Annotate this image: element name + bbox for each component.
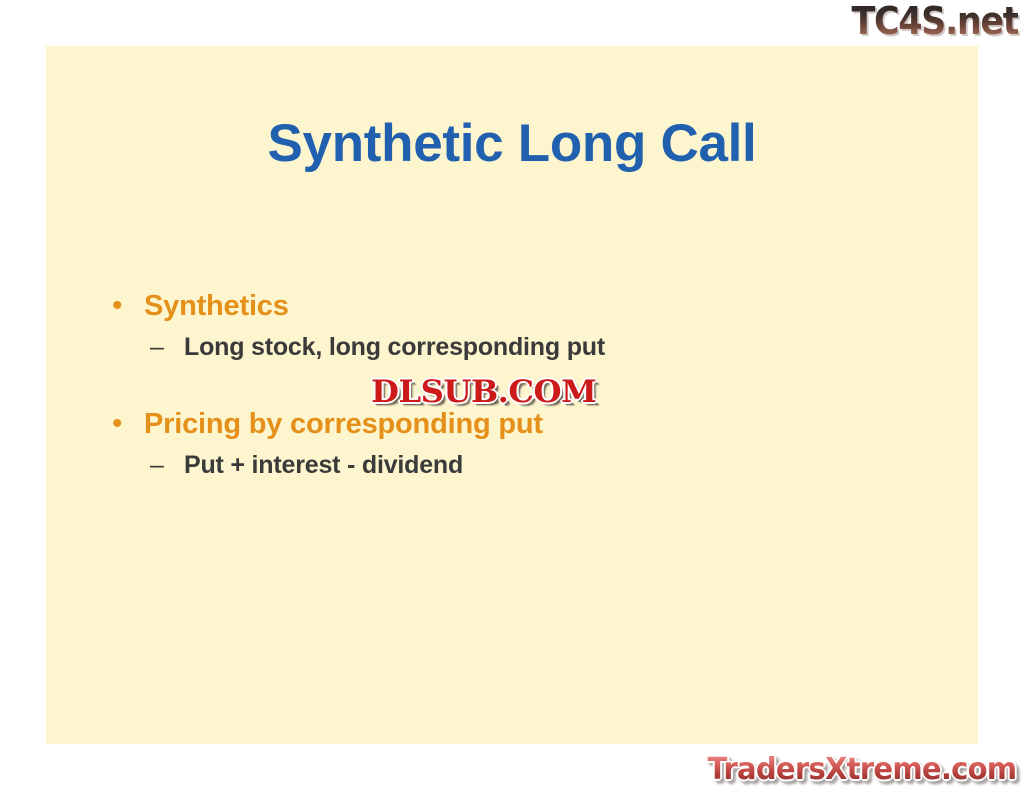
bullet-group: • Pricing by corresponding put – Put + i…: [106, 406, 966, 482]
bullet-label: Synthetics: [144, 288, 289, 324]
bullet-label: Pricing by corresponding put: [144, 406, 543, 442]
sub-bullet-label: Put + interest - dividend: [184, 450, 463, 481]
sub-bullet-label: Long stock, long corresponding put: [184, 332, 605, 363]
tradersxtreme-watermark: TradersXtreme.com: [707, 755, 1016, 785]
bullet-item-level2: – Put + interest - dividend: [106, 450, 966, 481]
bullet-group: • Synthetics – Long stock, long correspo…: [106, 288, 966, 364]
bullet-item-level1: • Synthetics: [106, 288, 966, 324]
slide-title: Synthetic Long Call: [46, 116, 978, 172]
bullet-dot-icon: •: [106, 291, 144, 321]
bullet-dash-icon: –: [106, 335, 184, 360]
bullet-dash-icon: –: [106, 453, 184, 478]
bullet-item-level2: – Long stock, long corresponding put: [106, 332, 966, 363]
dlsub-watermark: DLSUB.COM: [371, 377, 596, 408]
bullet-dot-icon: •: [106, 409, 144, 439]
tc4s-logo: TC4S.net: [851, 2, 1018, 40]
bullet-item-level1: • Pricing by corresponding put: [106, 406, 966, 442]
